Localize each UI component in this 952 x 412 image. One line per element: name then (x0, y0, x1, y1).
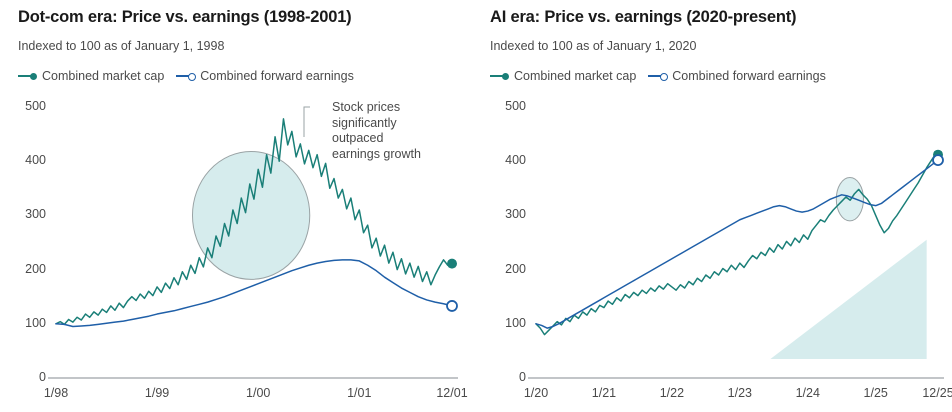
y-axis-tick-label: 300 (12, 207, 46, 221)
legend-label-market-cap: Combined market cap (514, 69, 636, 83)
x-axis-tick-label: 1/25 (850, 386, 902, 400)
y-axis-tick-label: 200 (492, 262, 526, 276)
x-axis-tick-label: 1/22 (646, 386, 698, 400)
highlight-wedge (770, 240, 926, 359)
end-marker-earnings (933, 155, 943, 165)
end-marker-market-cap (447, 259, 457, 269)
y-axis-tick-label: 0 (492, 370, 526, 384)
legend-item-earnings: Combined forward earnings (648, 69, 826, 83)
chart-subtitle-ai: Indexed to 100 as of January 1, 2020 (490, 39, 696, 53)
legend-ai: Combined market cap Combined forward ear… (490, 69, 826, 83)
plot-area-ai: 01002003004005001/201/211/221/231/241/25… (476, 95, 952, 412)
panel-dotcom: Dot-com era: Price vs. earnings (1998-20… (0, 0, 476, 412)
dual-chart-figure: Dot-com era: Price vs. earnings (1998-20… (0, 0, 952, 412)
page-title: Dot-com era: Price vs. earnings (1998-20… (18, 8, 351, 27)
annotation-line: significantly (332, 116, 472, 132)
y-axis-tick-label: 300 (492, 207, 526, 221)
y-axis-tick-label: 500 (12, 99, 46, 113)
legend-item-earnings: Combined forward earnings (176, 69, 354, 83)
end-marker-earnings (447, 301, 457, 311)
annotation-leader-line (304, 107, 310, 137)
legend-label-earnings: Combined forward earnings (672, 69, 826, 83)
annotation-line: Stock prices (332, 100, 472, 116)
legend-label-market-cap: Combined market cap (42, 69, 164, 83)
y-axis-tick-label: 200 (12, 262, 46, 276)
legend-item-market-cap: Combined market cap (18, 69, 164, 83)
line-marker-open-icon (648, 71, 668, 81)
legend-dotcom: Combined market cap Combined forward ear… (18, 69, 354, 83)
x-axis-tick-label: 1/99 (131, 386, 183, 400)
panel-ai: AI era: Price vs. earnings (2020-present… (476, 0, 952, 412)
annotation-line: outpaced (332, 131, 472, 147)
highlight-ellipse (192, 151, 309, 279)
y-axis-tick-label: 400 (492, 153, 526, 167)
y-axis-tick-label: 400 (12, 153, 46, 167)
y-axis-tick-label: 0 (12, 370, 46, 384)
legend-item-market-cap: Combined market cap (490, 69, 636, 83)
line-marker-filled-icon (490, 71, 510, 81)
page-title-ai: AI era: Price vs. earnings (2020-present… (490, 8, 796, 27)
annotation-dotcom: Stock prices significantly outpaced earn… (332, 100, 472, 162)
x-axis-tick-label: 1/00 (232, 386, 284, 400)
chart-svg-ai (476, 95, 952, 412)
legend-label-earnings: Combined forward earnings (200, 69, 354, 83)
line-marker-filled-icon (18, 71, 38, 81)
x-axis-tick-label: 12/25 (912, 386, 952, 400)
line-marker-open-icon (176, 71, 196, 81)
y-axis-tick-label: 500 (492, 99, 526, 113)
annotation-line: earnings growth (332, 147, 472, 163)
x-axis-tick-label: 1/20 (510, 386, 562, 400)
x-axis-tick-label: 12/01 (426, 386, 478, 400)
x-axis-tick-label: 1/24 (782, 386, 834, 400)
y-axis-tick-label: 100 (12, 316, 46, 330)
x-axis-tick-label: 1/21 (578, 386, 630, 400)
x-axis-tick-label: 1/01 (333, 386, 385, 400)
x-axis-tick-label: 1/98 (30, 386, 82, 400)
chart-subtitle: Indexed to 100 as of January 1, 1998 (18, 39, 224, 53)
x-axis-tick-label: 1/23 (714, 386, 766, 400)
y-axis-tick-label: 100 (492, 316, 526, 330)
